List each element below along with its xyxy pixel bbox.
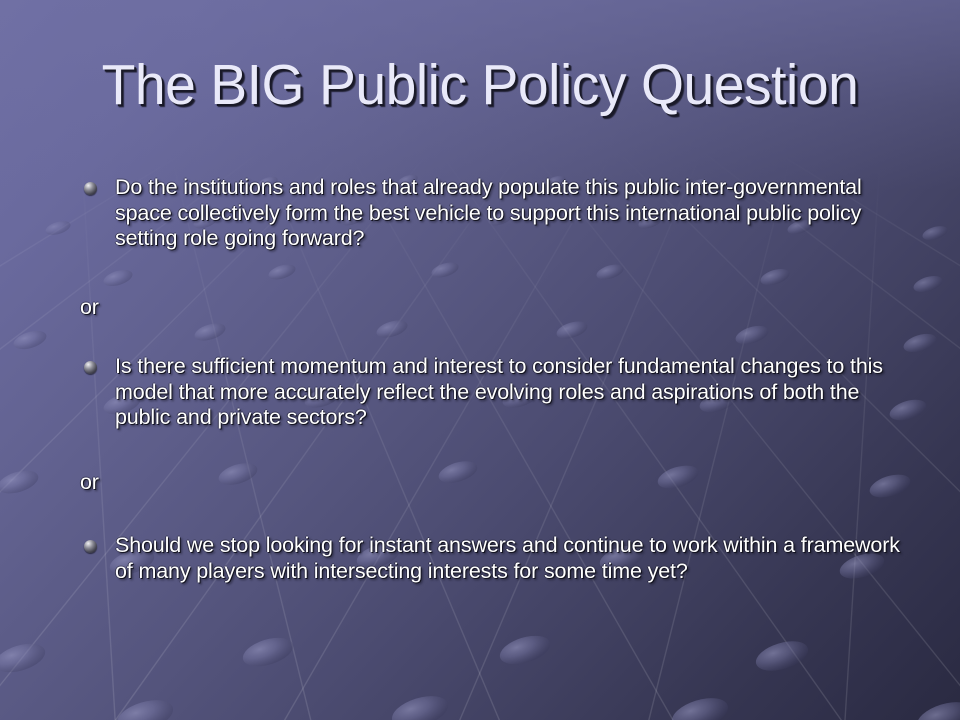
bullet-text-question-2: Is there sufficient momentum and interes… — [115, 354, 883, 429]
bullet-block-question-1: Do the institutions and roles that alrea… — [80, 175, 920, 252]
separator-label: or — [80, 295, 99, 319]
sphere-bullet-icon — [84, 182, 97, 195]
bullet-block-question-3: Should we stop looking for instant answe… — [80, 533, 920, 584]
separator-or-2: or — [80, 470, 920, 496]
sphere-bullet-icon — [84, 540, 97, 553]
separator-label: or — [80, 470, 99, 494]
bullet-item: Should we stop looking for instant answe… — [80, 533, 920, 584]
separator-or-1: or — [80, 295, 920, 321]
bullet-item: Do the institutions and roles that alrea… — [80, 175, 920, 252]
presentation-slide: The BIG Public Policy Question Do the in… — [0, 0, 960, 720]
bullet-item: Is there sufficient momentum and interes… — [80, 354, 920, 431]
bullet-block-question-2: Is there sufficient momentum and interes… — [80, 354, 920, 431]
bullet-text-question-1: Do the institutions and roles that alrea… — [115, 175, 862, 250]
slide-body: Do the institutions and roles that alrea… — [0, 0, 960, 720]
bullet-text-question-3: Should we stop looking for instant answe… — [115, 533, 900, 583]
sphere-bullet-icon — [84, 361, 97, 374]
